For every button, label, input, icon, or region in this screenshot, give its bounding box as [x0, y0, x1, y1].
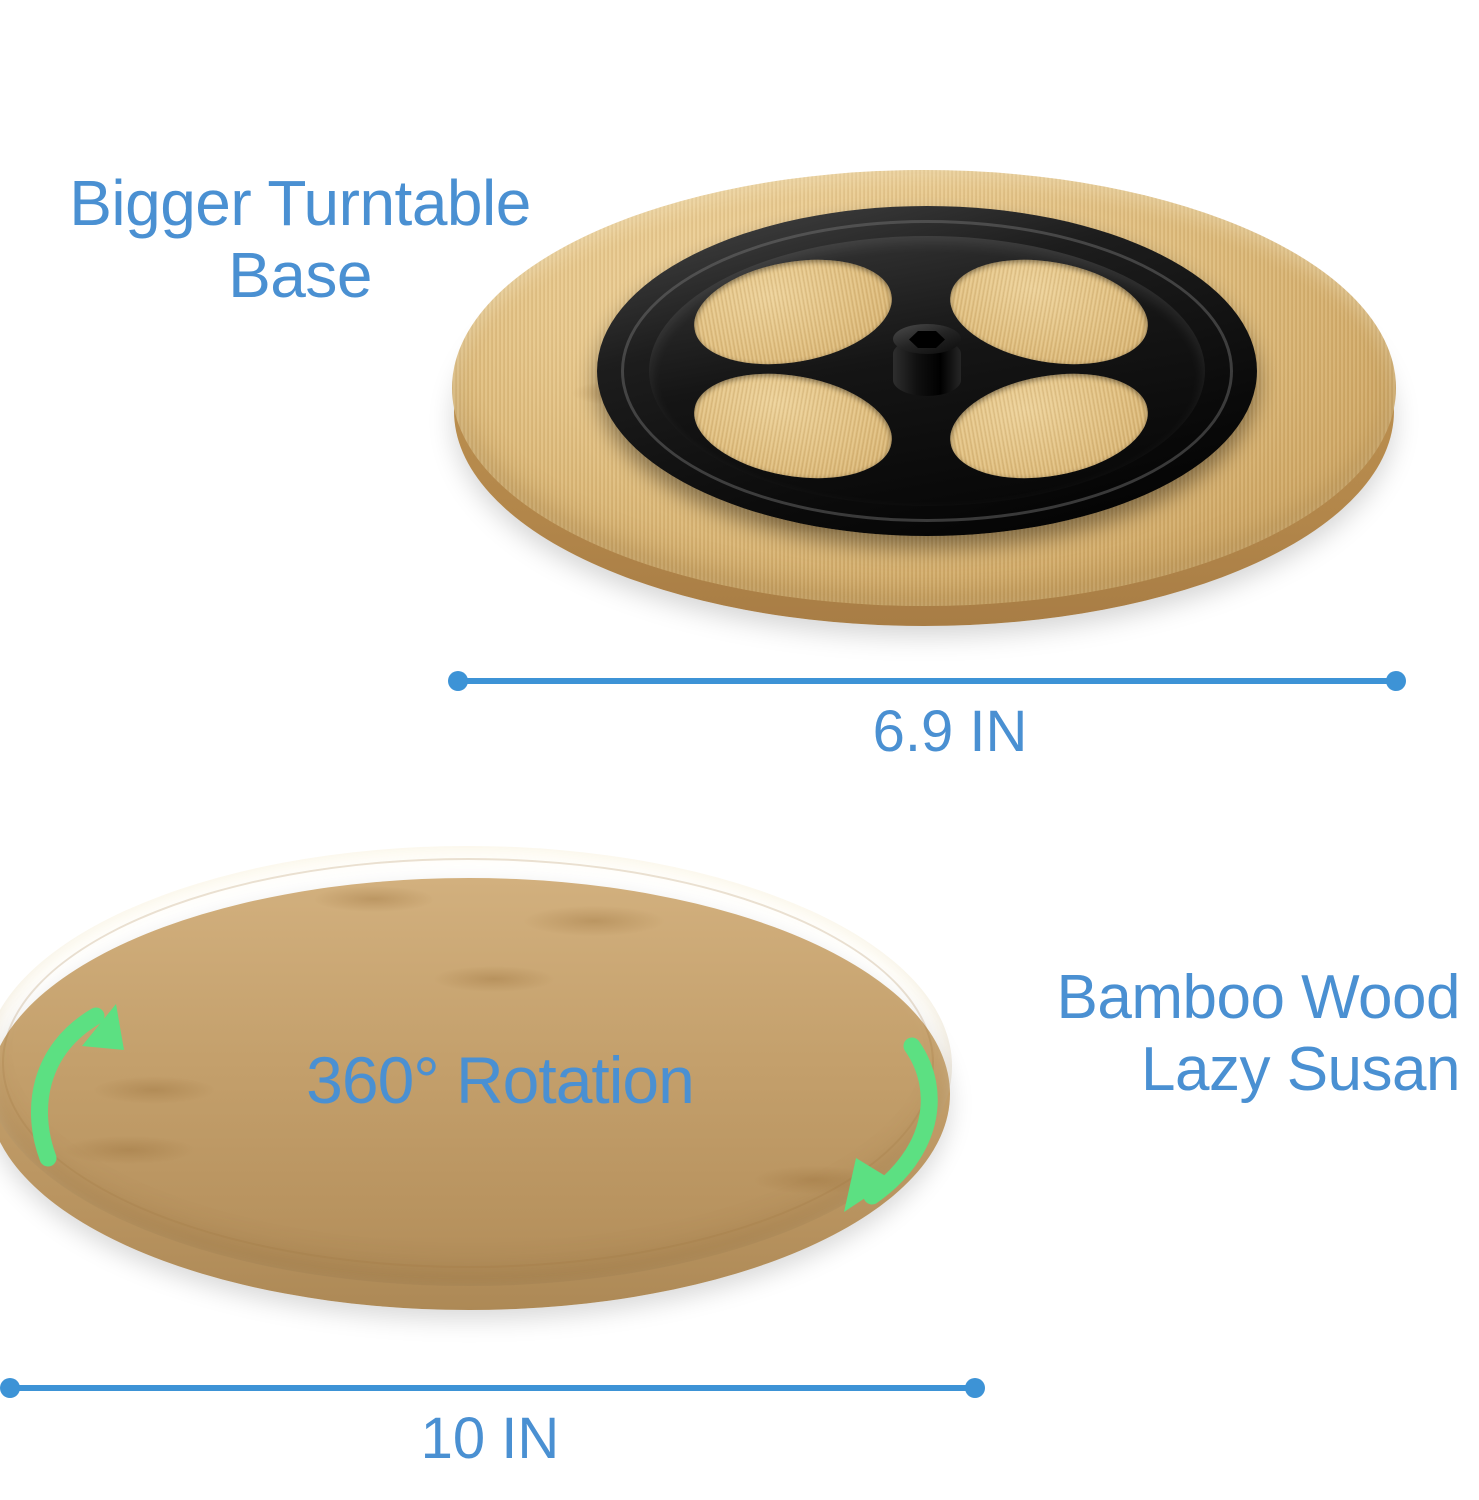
dimension-line-bottom — [0, 1377, 985, 1399]
dimension-line-top — [448, 670, 1406, 692]
dimension-label-bottom: 10 IN — [240, 1405, 740, 1472]
product-image-turntable-base — [452, 170, 1398, 656]
product-infographic: Bigger Turntable Base — [0, 0, 1479, 1500]
dimension-bar — [8, 1385, 977, 1391]
dimension-label-top: 6.9 IN — [700, 698, 1200, 765]
dimension-bar — [456, 678, 1398, 684]
bearing-center-hub — [893, 324, 961, 398]
black-turntable-bearing — [597, 206, 1257, 536]
dot-endpoint-icon — [1386, 671, 1406, 691]
rotate-counterclockwise-arrow — [20, 980, 160, 1170]
headline-bamboo-wood-lazy-susan: Bamboo Wood Lazy Susan — [900, 962, 1460, 1106]
overlay-label-360-rotation: 360° Rotation — [180, 1044, 820, 1118]
dot-endpoint-icon — [965, 1378, 985, 1398]
